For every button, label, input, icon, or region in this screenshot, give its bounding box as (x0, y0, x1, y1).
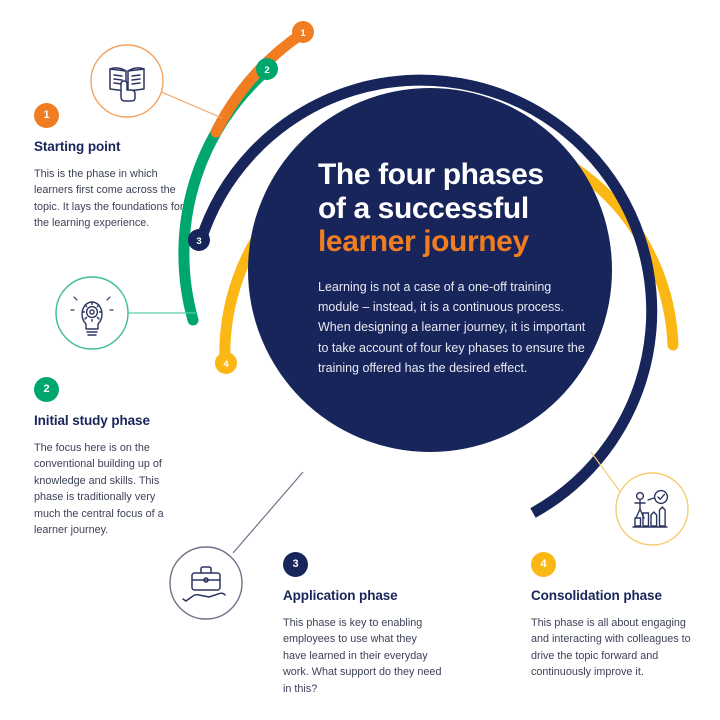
phase-1-title: Starting point (34, 139, 184, 154)
hub-text-block: The four phases of a successful learner … (318, 158, 608, 378)
phase-3-number: 3 (292, 559, 298, 570)
phase-block-1: 1 Starting point This is the phase in wh… (34, 103, 184, 232)
phase-block-4: 4 Consolidation phase This phase is all … (531, 552, 691, 681)
arc-marker-1: 1 (292, 21, 314, 43)
phase-4-number: 4 (540, 559, 546, 570)
arc-marker-4: 4 (215, 352, 237, 374)
arc-marker-2-label: 2 (264, 65, 269, 76)
phase-3-body: This phase is key to enabling employees … (283, 615, 443, 697)
phase-block-2: 2 Initial study phase The focus here is … (34, 377, 184, 538)
phase-2-number: 2 (43, 384, 49, 395)
phase-2-badge: 2 (34, 377, 59, 402)
lightbulb-gear-icon (56, 277, 128, 349)
phase-4-body: This phase is all about engaging and int… (531, 615, 691, 681)
phase-1-body: This is the phase in which learners firs… (34, 166, 184, 232)
leader-line-4 (591, 452, 621, 493)
arc-marker-3: 3 (188, 229, 210, 251)
briefcase-hand-icon (170, 547, 242, 619)
hub-title-line-1: The four phases (318, 158, 608, 192)
arc-marker-4-label: 4 (223, 359, 229, 370)
phase-2-title: Initial study phase (34, 413, 184, 428)
leader-line-3 (233, 472, 303, 553)
phase-3-badge: 3 (283, 552, 308, 577)
arc-marker-2: 2 (256, 58, 278, 80)
hub-title-line-2: of a successful (318, 192, 608, 226)
phase-1-number: 1 (43, 110, 49, 121)
hub-body-text: Learning is not a case of a one-off trai… (318, 277, 593, 378)
phase-3-title: Application phase (283, 588, 443, 603)
phase-block-3: 3 Application phase This phase is key to… (283, 552, 443, 697)
phase-4-title: Consolidation phase (531, 588, 691, 603)
phase-1-badge: 1 (34, 103, 59, 128)
arc-marker-3-label: 3 (196, 236, 201, 247)
arc-marker-1-label: 1 (300, 28, 306, 39)
hub-title-accent: learner journey (318, 225, 608, 259)
infographic-canvas: 1 2 3 4 (0, 0, 720, 720)
person-chart-clock-icon (616, 473, 688, 545)
hub-title: The four phases of a successful learner … (318, 158, 608, 259)
phase-2-body: The focus here is on the conventional bu… (34, 440, 184, 538)
phase-4-badge: 4 (531, 552, 556, 577)
